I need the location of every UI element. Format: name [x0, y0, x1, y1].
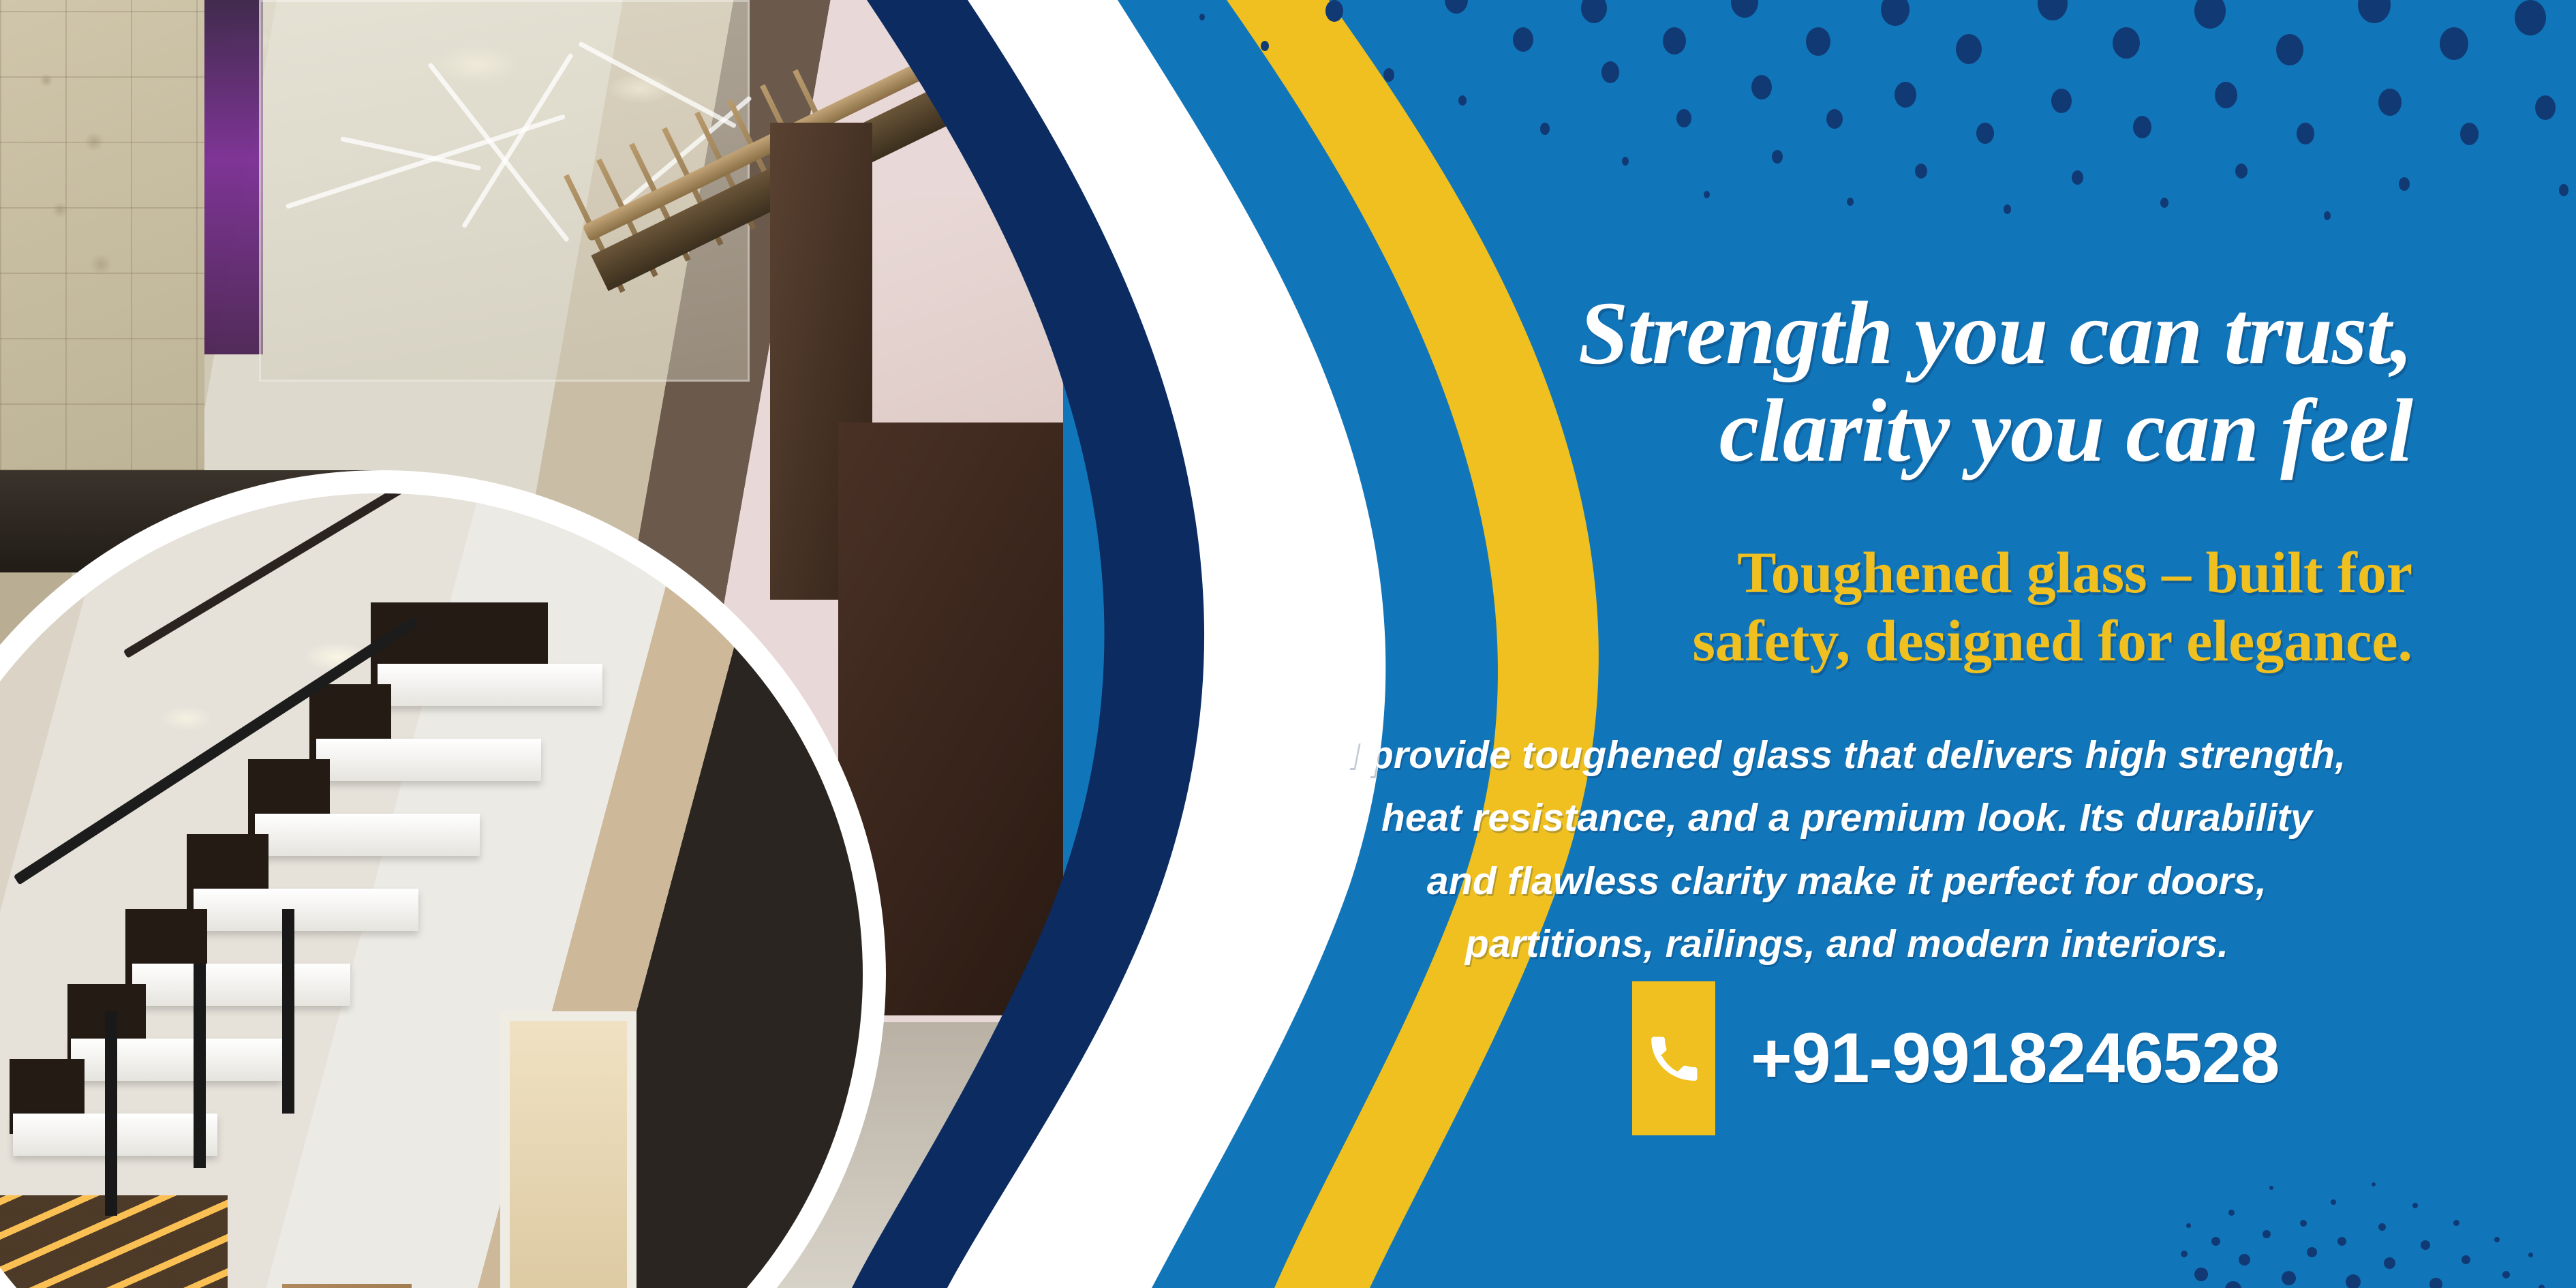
phone-badge[interactable]	[1632, 981, 1715, 1135]
text-column: Strength you can trust, clarity you can …	[1281, 0, 2576, 1288]
contact-row[interactable]: +91-9918246528	[1632, 981, 2279, 1135]
headline-line-2: clarity you can feel	[1281, 382, 2412, 480]
phone-handset-icon	[1647, 1032, 1700, 1085]
corridor	[500, 1011, 637, 1288]
phone-number[interactable]: +91-9918246528	[1751, 1018, 2279, 1099]
body-copy: I provide toughened glass that delivers …	[1281, 724, 2412, 975]
body-line-4: partitions, railings, and modern interio…	[1281, 913, 2412, 975]
subheadline-line-2: safety, designed for elegance.	[1281, 607, 2412, 675]
body-line-1: I provide toughened glass that delivers …	[1281, 724, 2412, 786]
subheadline: Toughened glass – built for safety, desi…	[1281, 539, 2412, 675]
inset-photo-circle	[0, 470, 886, 1288]
promotional-banner: Strength you can trust, clarity you can …	[0, 0, 2576, 1288]
tile-wall	[0, 0, 204, 470]
inset-photo	[0, 493, 863, 1288]
body-line-3: and flawless clarity make it perfect for…	[1281, 850, 2412, 913]
photo-collage	[0, 0, 1063, 1288]
body-line-2: heat resistance, and a premium look. Its…	[1281, 786, 2412, 849]
headline: Strength you can trust, clarity you can …	[1281, 285, 2412, 479]
headline-line-1: Strength you can trust,	[1281, 285, 2412, 382]
subheadline-line-1: Toughened glass – built for	[1281, 539, 2412, 607]
purple-accent-light	[204, 0, 263, 354]
